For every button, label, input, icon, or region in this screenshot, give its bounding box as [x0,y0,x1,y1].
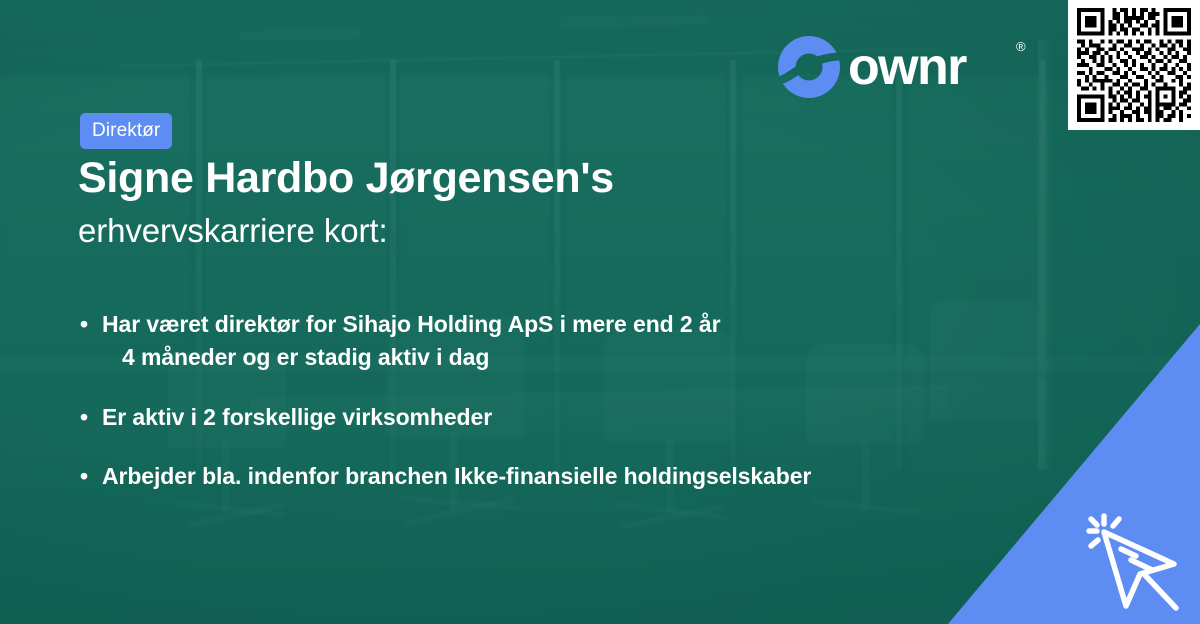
career-facts-list: • Har været direktør for Sihajo Holding … [80,308,1040,519]
ownr-wordmark: ownr [848,36,966,98]
list-item-line1: Arbejder bla. indenfor branchen Ikke-fin… [102,463,811,489]
page-title: Signe Hardbo Jørgensen's [78,156,614,201]
role-badge: Direktør [80,113,172,149]
registered-trademark-icon: ® [1016,40,1026,53]
bullet-marker: • [80,401,102,434]
ownr-circle-logo-icon [778,36,840,98]
career-card: Direktør Signe Hardbo Jørgensen's erhver… [0,0,1200,624]
list-item: • Har været direktør for Sihajo Holding … [80,308,1040,375]
bullet-marker: • [80,460,102,493]
list-item-line1: Har været direktør for Sihajo Holding Ap… [102,311,720,337]
list-item-line1: Er aktiv i 2 forskellige virksomheder [102,404,492,430]
bullet-marker: • [80,308,102,341]
click-cursor-icon [1078,508,1190,620]
ownr-logo[interactable]: ownr ® [778,34,1028,98]
qr-code[interactable] [1068,0,1200,130]
page-subtitle: erhvervskarriere kort: [78,212,388,250]
list-item: • Arbejder bla. indenfor branchen Ikke-f… [80,460,1040,493]
list-item: • Er aktiv i 2 forskellige virksomheder [80,401,1040,434]
